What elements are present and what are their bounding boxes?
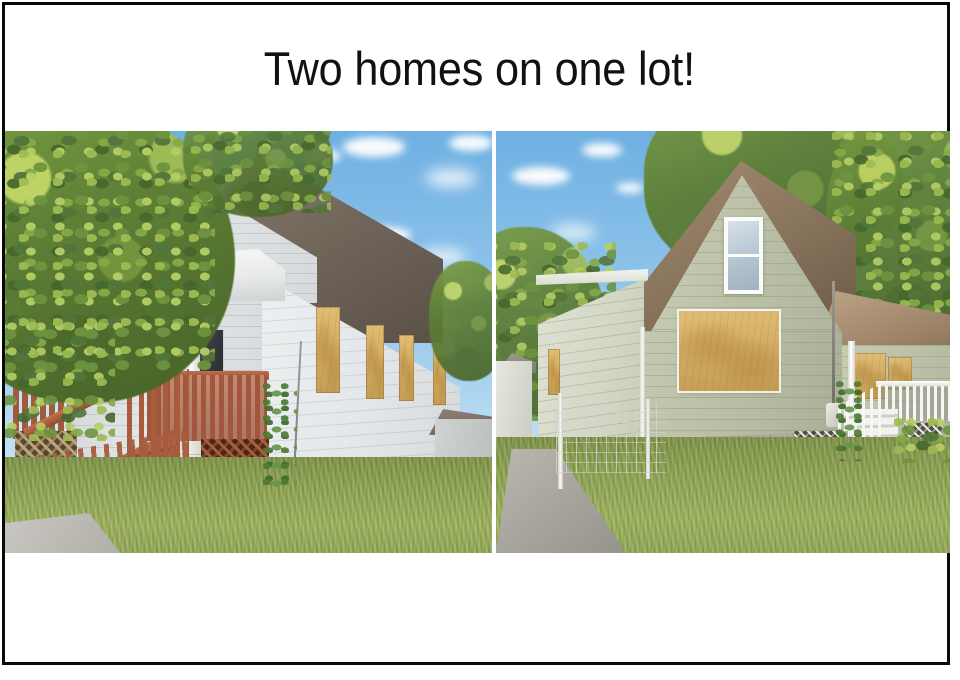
slide-canvas: Two homes on one lot! 631 [0,0,960,680]
right-tree [429,261,492,381]
rear-house-photo[interactable] [496,131,950,553]
front-house-photo[interactable]: 631 [5,131,492,553]
photo-strip: 631 [5,131,950,553]
cloud [512,167,570,185]
cloud [343,137,405,157]
wall-vine [263,383,297,489]
cloud [449,135,492,151]
page-title: Two homes on one lot! [263,45,694,92]
boarded-window [366,325,384,399]
tree-branch-foliage [191,131,331,213]
chain-link-fence [556,403,666,473]
cloud [616,183,644,193]
porch-vine [836,381,862,461]
cloud [425,169,477,187]
boarded-window [399,335,414,401]
title-area: Two homes on one lot! [8,8,950,128]
lower-shrub [5,321,115,441]
gable-window [724,217,763,294]
slide-border-frame: Two homes on one lot! 631 [2,2,950,665]
cloud [582,143,622,157]
boarded-window-side [548,349,560,395]
porch-shrub [894,417,950,463]
electrical-conduit [832,281,835,405]
boarded-window-main [679,311,779,391]
boarded-window [316,307,340,393]
